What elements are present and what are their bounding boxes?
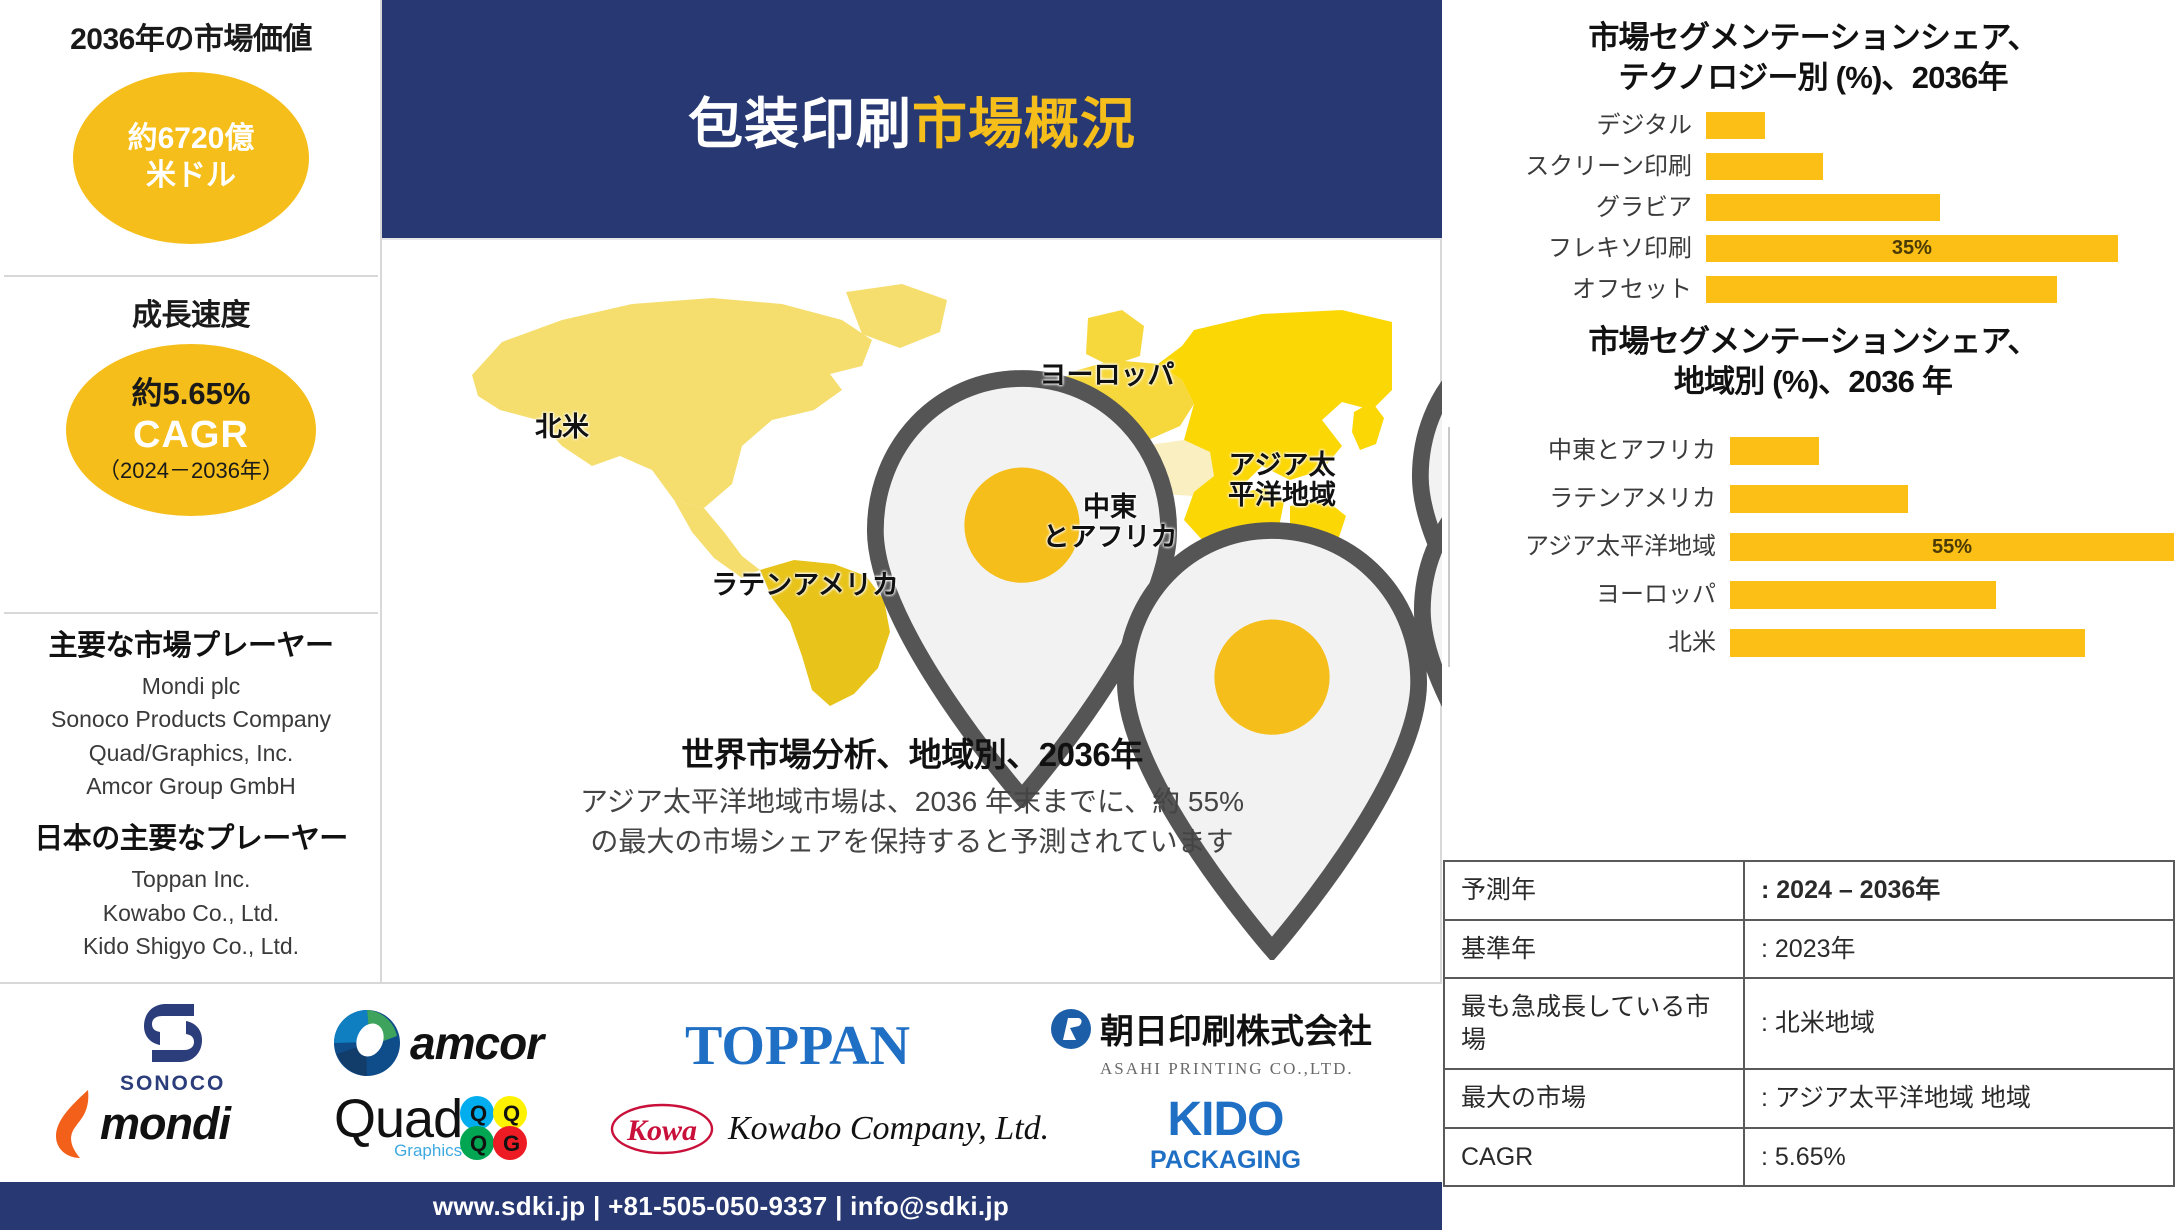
bar-row: オフセット [1466, 269, 2174, 310]
chart-regional-segmentation: 市場セグメンテーションシェア、 地域別 (%)、2036 年 中東とアフリカ ラ… [1442, 322, 2184, 667]
logo-kido-packaging: KIDO PACKAGING [1150, 1096, 1301, 1175]
bar-fill [1730, 581, 1996, 609]
bar-fill: 35% [1706, 235, 2118, 262]
left-divider-1 [4, 275, 378, 277]
list-item: Kowabo Co., Ltd. [0, 897, 382, 930]
logo-toppan-label: TOPPAN [685, 1014, 910, 1078]
map-caption-title: 世界市場分析、地域別、2036年 [382, 728, 1442, 776]
logo-kowabo-label: Kowabo Company, Ltd. [728, 1110, 1049, 1148]
logo-mondi: mondi [50, 1088, 230, 1160]
bar-track: 55% [1730, 523, 2174, 571]
bar-track [1706, 146, 2174, 187]
logo-quad-sublabel: Graphics [394, 1141, 462, 1161]
map-label-north-america: 北米 [502, 412, 622, 442]
growth-rate-heading: 成長速度 [0, 290, 382, 334]
list-item: Amcor Group GmbH [0, 770, 382, 803]
bar-track [1730, 475, 2174, 523]
logo-toppan: TOPPAN [685, 1014, 910, 1078]
bar-row: ラテンアメリカ [1450, 475, 2174, 523]
bar-label: 北米 [1450, 631, 1730, 655]
table-cell-value: : 2024 – 2036年 [1744, 861, 2174, 920]
bar-fill: 55% [1730, 533, 2174, 561]
svg-text:G: G [503, 1131, 520, 1156]
bar-track [1730, 571, 2174, 619]
market-value-line1: 約6720億 [128, 121, 255, 158]
logo-amcor: amcor [330, 1006, 543, 1080]
market-value-heading: 2036年の市場価値 [0, 14, 382, 58]
bar-row: フレキソ印刷 35% [1466, 228, 2174, 269]
logo-kido-sublabel: PACKAGING [1150, 1146, 1301, 1175]
table-row: CAGR : 5.65% [1444, 1128, 2174, 1187]
chart-technology-title-line1: 市場セグメンテーションシェア、 [1442, 18, 2184, 58]
key-players-heading: 主要な市場プレーヤー [0, 622, 382, 664]
qg-dots-icon: Q Q Q G [458, 1095, 532, 1161]
bar-track [1706, 105, 2174, 146]
amcor-mark-icon [330, 1006, 404, 1080]
table-row: 最も急成長している市場 : 北米地域 [1444, 978, 2174, 1069]
footer-contact-text: www.sdki.jp | +81-505-050-9337 | info@sd… [433, 1191, 1009, 1222]
table-row: 基準年 : 2023年 [1444, 920, 2174, 979]
market-spec-table: 予測年 : 2024 – 2036年 基準年 : 2023年 最も急成長している… [1443, 860, 2175, 1187]
bar-row: デジタル [1466, 105, 2174, 146]
map-label-middle-east-africa: 中東 とアフリカ [1030, 492, 1190, 552]
company-logo-strip: SONOCO mondi amcor Quad Graphics [0, 982, 1442, 1182]
kowa-oval-icon: Kowa [610, 1102, 714, 1156]
chart-regional-title: 市場セグメンテーションシェア、 地域別 (%)、2036 年 [1442, 322, 2184, 401]
key-players-cell: 主要な市場プレーヤー Mondi plc Sonoco Products Com… [0, 622, 382, 963]
growth-rate-line2: CAGR [133, 412, 249, 458]
logo-quad-label: Quad [334, 1094, 462, 1145]
footer-bar: www.sdki.jp | +81-505-050-9337 | info@sd… [0, 1182, 1442, 1230]
bar-fill [1706, 112, 1765, 139]
table-row: 予測年 : 2024 – 2036年 [1444, 861, 2174, 920]
header-banner: 包装印刷市場概況 [382, 0, 1442, 238]
bar-label: フレキソ印刷 [1466, 237, 1706, 261]
bar-row: 北米 [1450, 619, 2174, 667]
bar-label: グラビア [1466, 196, 1706, 220]
growth-rate-line3: （2024－2036年） [98, 458, 284, 484]
bar-label: デジタル [1466, 114, 1706, 138]
bar-row: ヨーロッパ [1450, 571, 2174, 619]
table-cell-value: : 北米地域 [1744, 978, 2174, 1069]
logo-asahi-sublabel: ASAHI PRINTING CO.,LTD. [1100, 1059, 1354, 1079]
bar-label: ヨーロッパ [1450, 583, 1730, 607]
table-cell-key: CAGR [1444, 1128, 1744, 1187]
table-cell-value: : 5.65% [1744, 1128, 2174, 1187]
chart-regional-y-axis [1448, 427, 1450, 667]
left-divider-2 [4, 612, 378, 614]
bar-label: ラテンアメリカ [1450, 487, 1730, 511]
table-cell-value: : アジア太平洋地域 地域 [1744, 1069, 2174, 1128]
page-title: 包装印刷市場概況 [688, 79, 1136, 159]
table-row: 最大の市場 : アジア太平洋地域 地域 [1444, 1069, 2174, 1128]
list-item: Kido Shigyo Co., Ltd. [0, 930, 382, 963]
logo-asahi-label: 朝日印刷株式会社 [1100, 1004, 1372, 1053]
bar-row: グラビア [1466, 187, 2174, 228]
logo-amcor-label: amcor [410, 1016, 543, 1070]
map-label-latin-america: ラテンアメリカ [690, 570, 920, 600]
mondi-flame-icon [50, 1088, 106, 1160]
chart-technology-title: 市場セグメンテーションシェア、 テクノロジー別 (%)、2036年 [1442, 18, 2184, 97]
chart-regional-title-line2: 地域別 (%)、2036 年 [1442, 362, 2184, 402]
infographic-root: 2036年の市場価値 約6720億 米ドル 成長速度 約5.65% CAGR （… [0, 0, 2184, 1230]
logo-asahi-printing: 朝日印刷株式会社 ASAHI PRINTING CO.,LTD. [1050, 1004, 1372, 1079]
table-cell-key: 最も急成長している市場 [1444, 978, 1744, 1069]
chart-regional-bars: 中東とアフリカ ラテンアメリカ アジ [1442, 427, 2184, 667]
table-cell-value: : 2023年 [1744, 920, 2174, 979]
table-cell-key: 最大の市場 [1444, 1069, 1744, 1128]
bar-fill [1730, 485, 1908, 513]
bar-label: スクリーン印刷 [1466, 155, 1706, 179]
list-item: Sonoco Products Company [0, 703, 382, 736]
svg-text:Q: Q [503, 1101, 520, 1126]
table-cell-key: 基準年 [1444, 920, 1744, 979]
bar-value: 35% [1892, 237, 1932, 260]
bar-fill [1706, 194, 1940, 221]
growth-rate-bubble: 約5.65% CAGR （2024－2036年） [66, 344, 316, 516]
svg-text:Kowa: Kowa [626, 1114, 697, 1147]
bar-fill [1730, 629, 2085, 657]
logo-kowabo: Kowa Kowabo Company, Ltd. [610, 1102, 1049, 1156]
bar-track [1706, 269, 2174, 310]
asahi-mark-icon [1050, 1008, 1092, 1050]
bar-track: 35% [1706, 228, 2174, 269]
bar-label: 中東とアフリカ [1450, 439, 1730, 463]
growth-rate-line1: 約5.65% [132, 376, 251, 413]
bar-fill [1706, 153, 1823, 180]
sonoco-mark-icon [136, 996, 210, 1070]
bar-value: 55% [1932, 536, 1972, 559]
chart-technology-bars: デジタル スクリーン印刷 グラビア [1442, 105, 2184, 310]
bar-track [1730, 619, 2174, 667]
world-map: 北米 ヨーロッパ 中東 とアフリカ アジア太 平洋地域 ラテンアメリカ [442, 270, 1392, 710]
bar-fill [1706, 276, 2057, 303]
logo-sonoco: SONOCO [120, 996, 225, 1096]
table-cell-key: 予測年 [1444, 861, 1744, 920]
page-title-part1: 包装印刷 [688, 93, 912, 155]
svg-text:Q: Q [470, 1131, 487, 1156]
chart-technology-segmentation: 市場セグメンテーションシェア、 テクノロジー別 (%)、2036年 デジタル ス… [1442, 18, 2184, 310]
japan-players-list: Toppan Inc. Kowabo Co., Ltd. Kido Shigyo… [0, 863, 382, 963]
bar-fill [1730, 437, 1819, 465]
list-item: Toppan Inc. [0, 863, 382, 896]
growth-rate-cell: 成長速度 約5.65% CAGR （2024－2036年） [0, 290, 382, 516]
page-title-part2: 市場概況 [912, 93, 1136, 155]
bar-label: オフセット [1466, 278, 1706, 302]
bar-row: 中東とアフリカ [1450, 427, 2174, 475]
market-value-cell: 2036年の市場価値 約6720億 米ドル [0, 14, 382, 244]
logo-mondi-label: mondi [100, 1098, 230, 1150]
world-map-panel: 北米 ヨーロッパ 中東 とアフリカ アジア太 平洋地域 ラテンアメリカ 世界市場… [382, 238, 1442, 982]
svg-text:Q: Q [470, 1101, 487, 1126]
map-label-asia-pacific: アジア太 平洋地域 [1214, 450, 1350, 510]
bar-label: アジア太平洋地域 [1450, 535, 1730, 559]
market-value-line2: 米ドル [146, 158, 236, 195]
logo-kido-label: KIDO [1167, 1096, 1283, 1144]
chart-regional-title-line1: 市場セグメンテーションシェア、 [1442, 322, 2184, 362]
list-item: Mondi plc [0, 670, 382, 703]
bar-row: スクリーン印刷 [1466, 146, 2174, 187]
market-value-bubble: 約6720億 米ドル [73, 72, 309, 244]
chart-technology-title-line2: テクノロジー別 (%)、2036年 [1442, 58, 2184, 98]
japan-players-heading: 日本の主要なプレーヤー [0, 815, 382, 857]
logo-quad-graphics: Quad Graphics Q Q Q G [334, 1094, 532, 1161]
map-label-europe: ヨーロッパ [1027, 360, 1187, 390]
key-players-list: Mondi plc Sonoco Products Company Quad/G… [0, 670, 382, 803]
bar-track [1730, 427, 2174, 475]
list-item: Quad/Graphics, Inc. [0, 737, 382, 770]
bar-row: アジア太平洋地域 55% [1450, 523, 2174, 571]
bar-track [1706, 187, 2174, 228]
map-caption-body: アジア太平洋地域市場は、2036 年末までに、約 55% の最大の市場シェアを保… [452, 782, 1372, 862]
